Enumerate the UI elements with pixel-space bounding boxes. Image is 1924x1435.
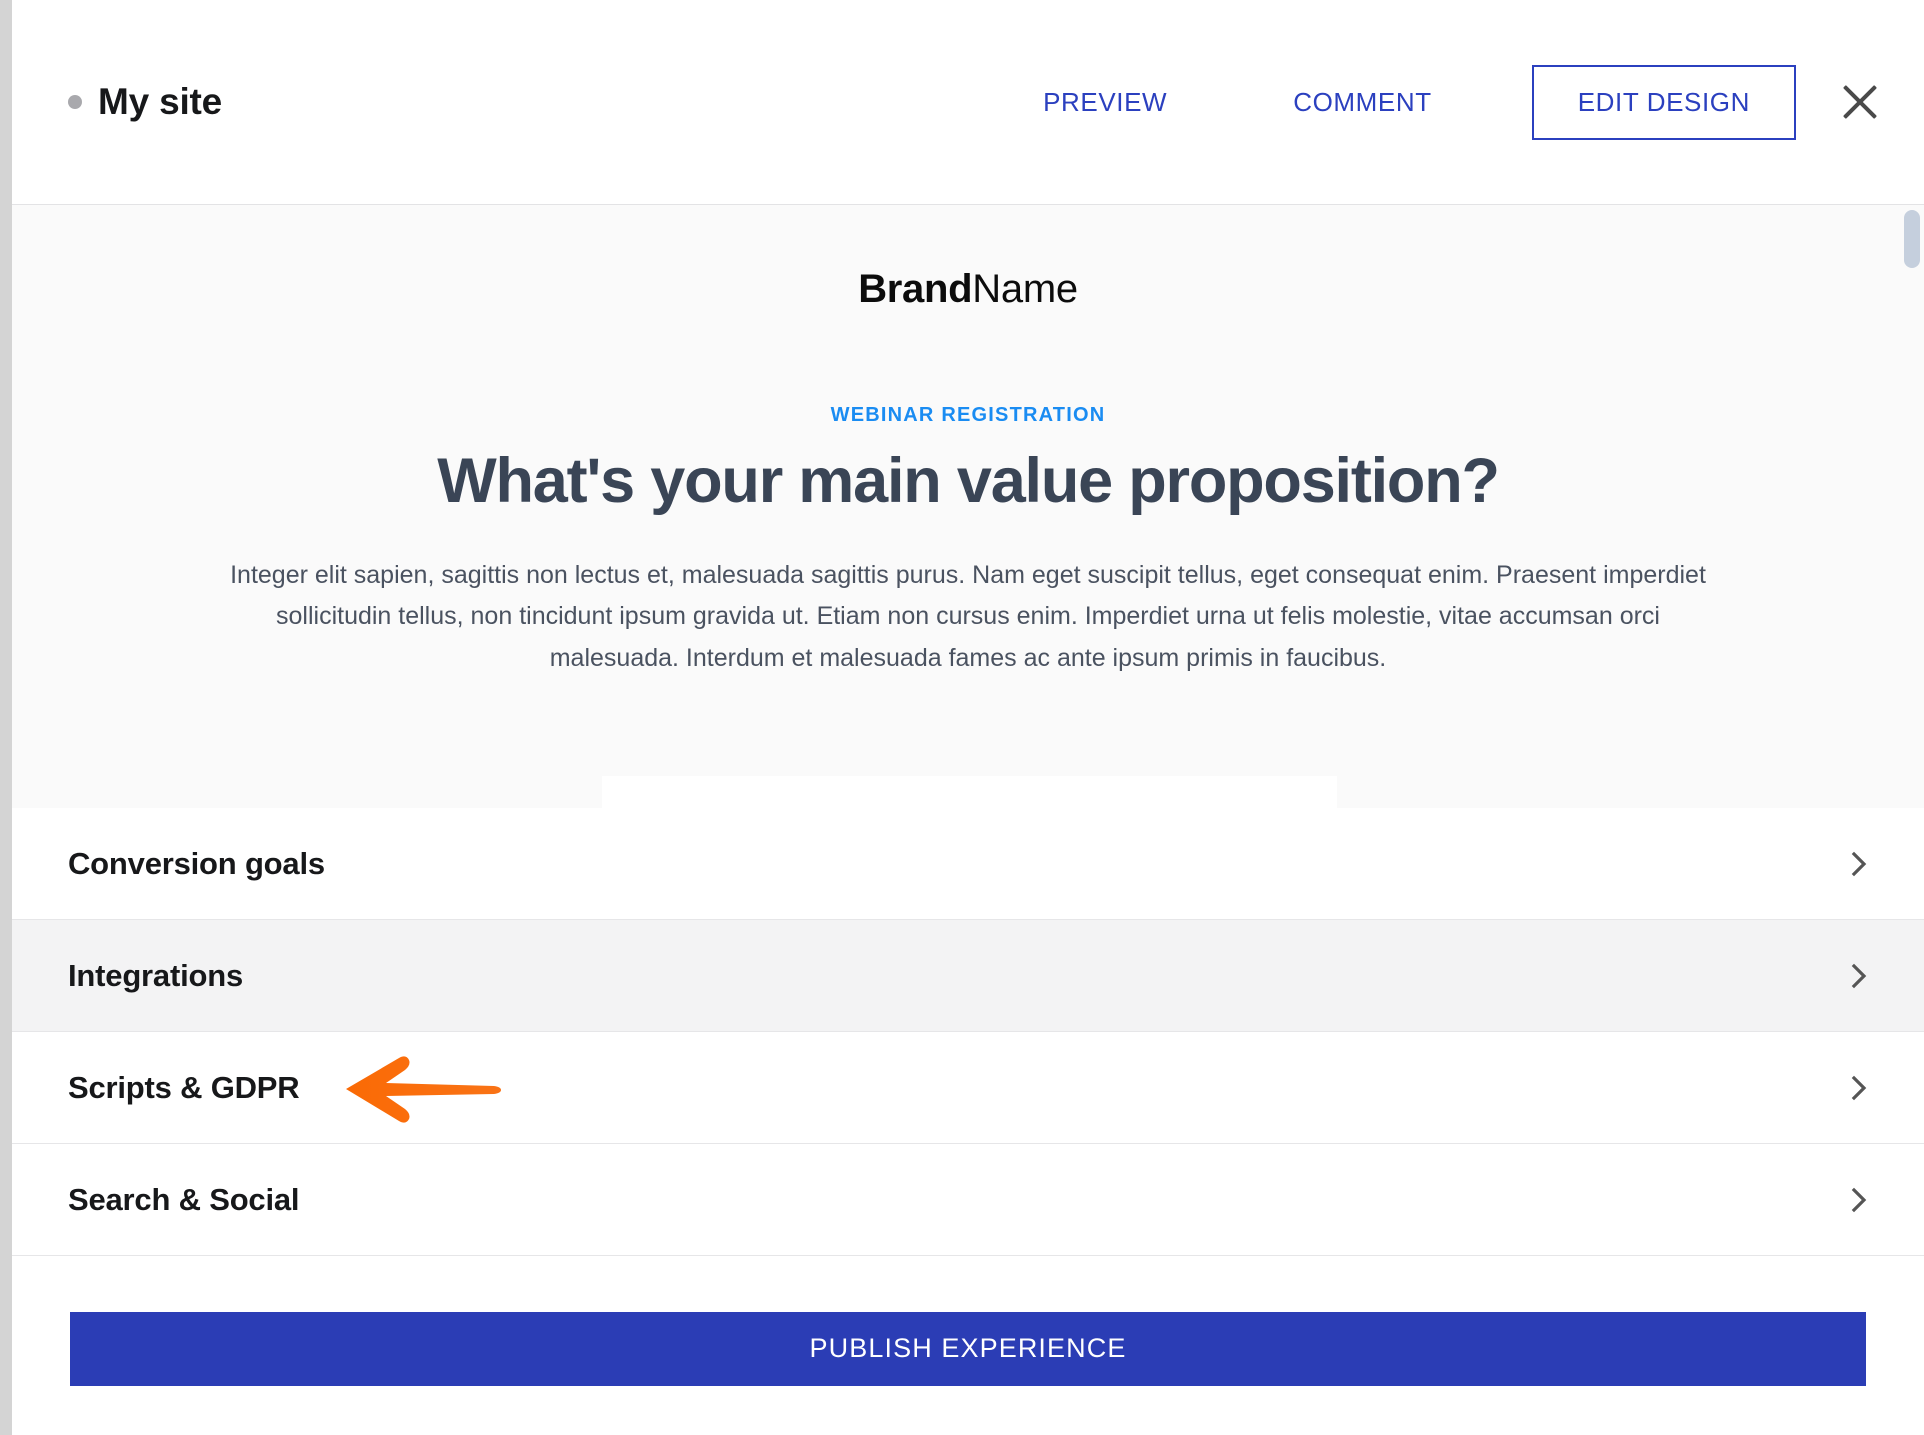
accordion-row-conversion-goals[interactable]: Conversion goals — [12, 808, 1924, 920]
settings-accordion: Conversion goals Integrations Scripts & … — [12, 808, 1924, 1256]
chevron-right-icon[interactable] — [1846, 851, 1872, 877]
comment-button[interactable]: COMMENT — [1289, 77, 1436, 128]
chevron-right-icon[interactable] — [1846, 1075, 1872, 1101]
brand-logo: BrandName — [12, 267, 1924, 312]
chevron-right-icon[interactable] — [1846, 963, 1872, 989]
preview-button[interactable]: PREVIEW — [1039, 77, 1171, 128]
close-icon[interactable] — [1832, 74, 1888, 130]
preview-content: BrandName WEBINAR REGISTRATION What's yo… — [12, 205, 1924, 679]
brand-logo-bold: Brand — [858, 267, 972, 311]
preview-scrollbar-thumb[interactable] — [1904, 210, 1920, 268]
top-bar: My site PREVIEW COMMENT EDIT DESIGN — [12, 0, 1924, 205]
brand-logo-light: Name — [972, 267, 1078, 311]
publish-experience-button[interactable]: PUBLISH EXPERIENCE — [70, 1312, 1866, 1386]
page-title: My site — [98, 81, 222, 123]
accordion-row-search-social[interactable]: Search & Social — [12, 1144, 1924, 1256]
accordion-label: Conversion goals — [68, 846, 325, 882]
top-bar-actions: PREVIEW COMMENT EDIT DESIGN — [1039, 65, 1888, 140]
edit-design-button[interactable]: EDIT DESIGN — [1532, 65, 1796, 140]
accordion-row-integrations[interactable]: Integrations — [12, 920, 1924, 1032]
accordion-row-scripts-gdpr[interactable]: Scripts & GDPR — [12, 1032, 1924, 1144]
hero-headline: What's your main value proposition? — [12, 445, 1924, 517]
app-root: My site PREVIEW COMMENT EDIT DESIGN Bran… — [0, 0, 1924, 1435]
accordion-label: Scripts & GDPR — [68, 1070, 299, 1106]
accordion-label: Search & Social — [68, 1182, 299, 1218]
hero-body-copy: Integer elit sapien, sagittis non lectus… — [218, 555, 1718, 679]
editor-window: My site PREVIEW COMMENT EDIT DESIGN Bran… — [12, 0, 1924, 1435]
page-preview-canvas[interactable]: BrandName WEBINAR REGISTRATION What's yo… — [12, 205, 1924, 808]
preview-scrollbar-track[interactable] — [1902, 206, 1924, 808]
chevron-right-icon[interactable] — [1846, 1187, 1872, 1213]
site-title-group: My site — [68, 81, 222, 123]
accordion-label: Integrations — [68, 958, 243, 994]
status-dot-icon — [68, 95, 82, 109]
footer-bar: PUBLISH EXPERIENCE — [12, 1256, 1924, 1435]
eyebrow-text: WEBINAR REGISTRATION — [12, 404, 1924, 427]
